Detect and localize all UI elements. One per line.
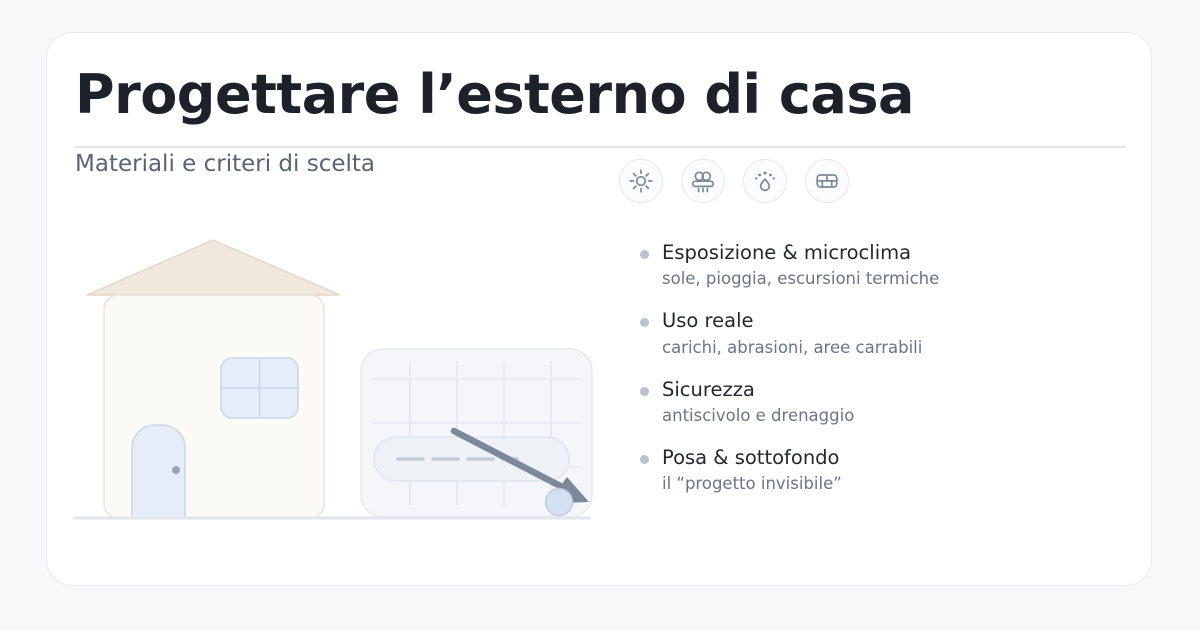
slope-arrow xyxy=(454,431,589,503)
list-item-subtitle: carichi, abrasioni, aree carrabili xyxy=(662,336,1120,360)
bullet-dot xyxy=(640,318,649,327)
wall xyxy=(104,295,324,518)
list-item-title: Uso reale xyxy=(662,309,1120,333)
bullet-dot xyxy=(640,455,649,464)
list-item: Posa & sottofondo il “progetto invisibil… xyxy=(640,446,1120,496)
icon-chip-row xyxy=(619,159,849,203)
list-item-title: Sicurezza xyxy=(662,378,1120,402)
chip-droplet-splash[interactable] xyxy=(743,159,787,203)
chip-sun[interactable] xyxy=(619,159,663,203)
list-item-title: Esposizione & microclima xyxy=(662,241,1120,265)
sun-icon xyxy=(628,168,654,194)
list-item: Sicurezza antiscivolo e drenaggio xyxy=(640,378,1120,428)
door xyxy=(132,425,185,518)
page-title: Progettare l’esterno di casa xyxy=(75,63,914,126)
paving-panel xyxy=(361,349,592,517)
list-item-subtitle: il “progetto invisibile” xyxy=(662,472,1120,496)
criteria-list: Esposizione & microclima sole, pioggia, … xyxy=(640,241,1120,496)
list-item: Esposizione & microclima sole, pioggia, … xyxy=(640,241,1120,291)
list-item-title: Posa & sottofondo xyxy=(662,446,1120,470)
chip-paver-tile[interactable] xyxy=(805,159,849,203)
bullet-dot xyxy=(640,250,649,259)
droplet-splash-icon xyxy=(752,168,778,194)
paver-tile-icon xyxy=(814,168,840,194)
list-item: Uso reale carichi, abrasioni, aree carra… xyxy=(640,309,1120,359)
door-handle xyxy=(172,466,180,474)
roof xyxy=(87,240,340,295)
bullet-dot xyxy=(640,387,649,396)
cloud-rain-icon xyxy=(690,168,716,194)
paving-grid xyxy=(373,361,581,505)
list-item-subtitle: sole, pioggia, escursioni termiche xyxy=(662,267,1120,291)
page-subtitle: Materiali e criteri di scelta xyxy=(75,151,375,177)
chip-cloud-rain[interactable] xyxy=(681,159,725,203)
header-divider xyxy=(75,146,1126,148)
water-droplet xyxy=(546,488,573,516)
drain-slot xyxy=(374,437,569,481)
content-card: Progettare l’esterno di casa Materiali e… xyxy=(46,32,1152,586)
window-4-pane xyxy=(221,358,298,418)
list-item-subtitle: antiscivolo e drenaggio xyxy=(662,404,1120,428)
slide-root: Progettare l’esterno di casa Materiali e… xyxy=(0,0,1200,630)
